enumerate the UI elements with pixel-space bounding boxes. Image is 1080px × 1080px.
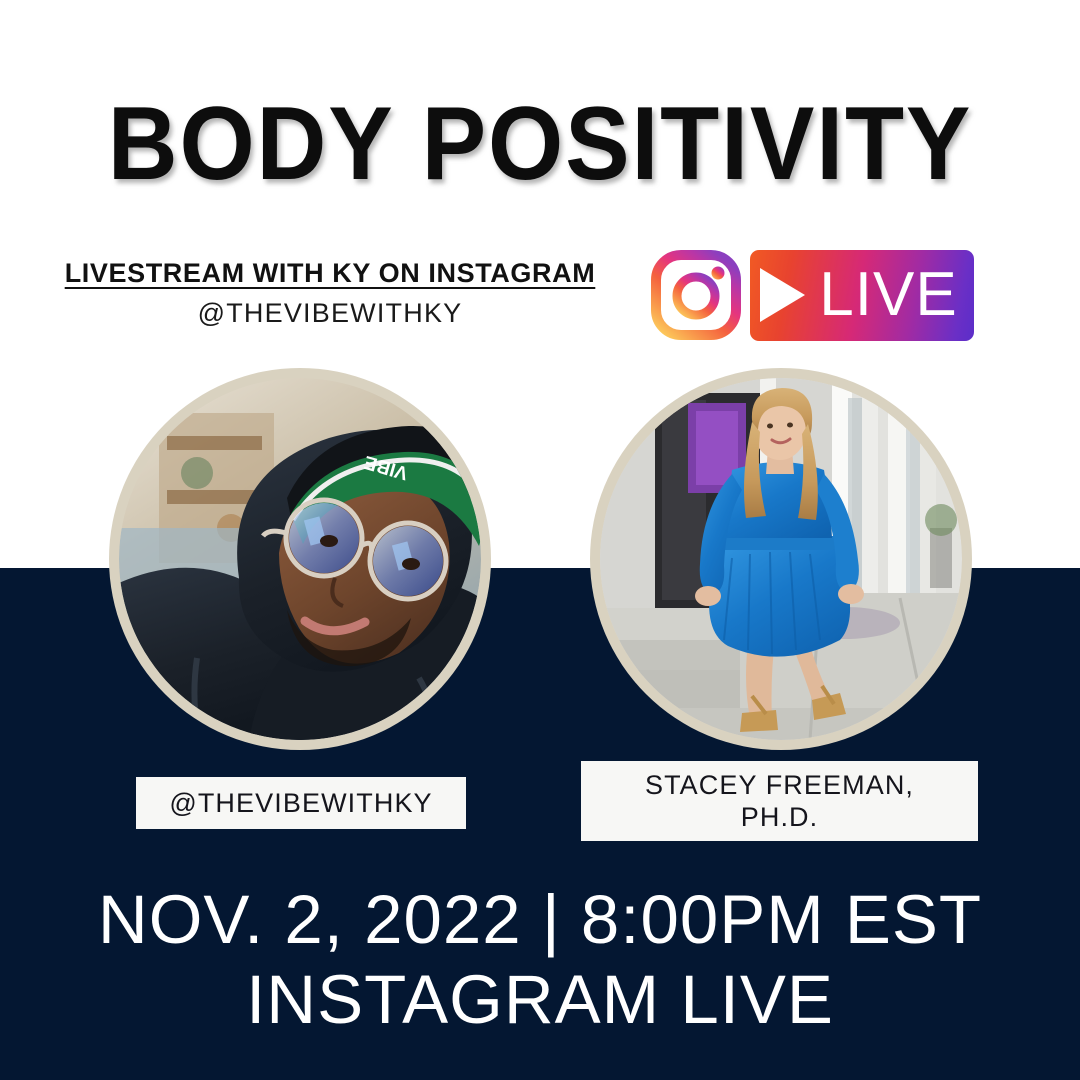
- subtitle-block: LIVESTREAM WITH KY ON INSTAGRAM @THEVIBE…: [34, 258, 626, 329]
- event-platform: INSTAGRAM LIVE: [0, 964, 1080, 1036]
- event-date-time: NOV. 2, 2022 | 8:00PM EST: [0, 884, 1080, 956]
- guest-photo-stacey: [590, 368, 972, 750]
- guest-photo-stacey-image: [600, 378, 962, 740]
- page-title: BODY POSITIVITY: [38, 92, 1042, 196]
- guest-name-stacey-line1: STACEY FREEMAN,: [645, 769, 914, 801]
- play-triangle-icon: [760, 268, 805, 322]
- footer-block: NOV. 2, 2022 | 8:00PM EST INSTAGRAM LIVE: [0, 884, 1080, 1036]
- guest-name-stacey-line2: PH.D.: [741, 801, 819, 833]
- guest-name-plate-ky: @THEVIBEWITHKY: [136, 777, 466, 829]
- guest-name-plate-stacey: STACEY FREEMAN, PH.D.: [581, 761, 978, 841]
- subtitle-livestream-line: LIVESTREAM WITH KY ON INSTAGRAM: [34, 258, 626, 289]
- instagram-camera-icon: [648, 247, 744, 343]
- guest-photo-ky: VIBE: [109, 368, 491, 750]
- live-pill: LIVE: [750, 250, 974, 341]
- instagram-live-badge: LIVE: [648, 247, 974, 343]
- subtitle-handle-line: @THEVIBEWITHKY: [34, 298, 626, 329]
- guest-name-ky: @THEVIBEWITHKY: [169, 788, 432, 819]
- live-label: LIVE: [819, 264, 957, 326]
- event-poster: BODY POSITIVITY LIVESTREAM WITH KY ON IN…: [0, 0, 1080, 1080]
- guest-photo-ky-image: VIBE: [119, 378, 481, 740]
